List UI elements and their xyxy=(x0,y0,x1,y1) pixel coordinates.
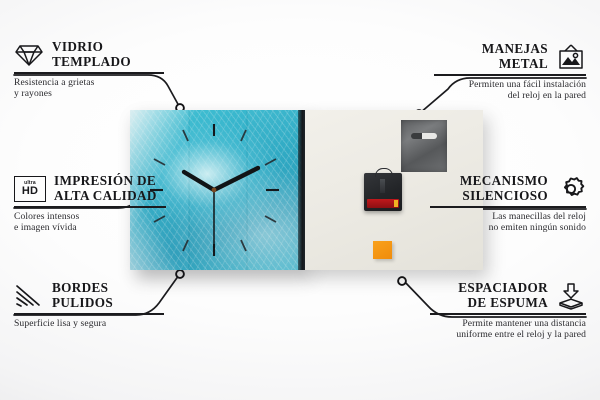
gear-icon xyxy=(556,175,586,203)
hanger-keyhole-slot xyxy=(411,133,437,139)
feature-description: Permiten una fácil instalación del reloj… xyxy=(434,79,586,102)
feature-bordes-pulidos: BORDES PULIDOS Superficie lisa y segura xyxy=(14,281,164,329)
feature-title: BORDES PULIDOS xyxy=(52,281,113,310)
feature-mecanismo-silencioso: MECANISMO SILENCIOSO Las manecillas del … xyxy=(430,174,586,234)
wire-dot-bordes xyxy=(176,270,184,278)
feature-description: Resistencia a grietas y rayones xyxy=(14,77,164,100)
feature-title: MANEJAS METAL xyxy=(482,42,548,71)
feature-description: Superficie lisa y segura xyxy=(14,318,164,329)
metal-hanger-plate xyxy=(401,120,447,172)
tempered-glass-edge xyxy=(298,110,305,270)
mechanism-hook xyxy=(375,168,393,177)
foam-spacer-arrow-icon xyxy=(556,282,586,310)
divider xyxy=(430,206,586,208)
hanging-picture-icon xyxy=(556,43,586,71)
feature-impresion-alta-calidad: ultra HD IMPRESIÓN DE ALTA CALIDAD Color… xyxy=(14,174,166,234)
hour-hand xyxy=(184,172,214,190)
feature-vidrio-templado: VIDRIO TEMPLADO Resistencia a grietas y … xyxy=(14,40,164,100)
divider xyxy=(14,206,166,208)
diagonal-lines-icon xyxy=(14,283,44,309)
feature-title: VIDRIO TEMPLADO xyxy=(52,40,131,69)
feature-description: Colores intensos e imagen vívida xyxy=(14,211,166,234)
battery-terminal xyxy=(394,200,398,207)
wire-dot-espaciador xyxy=(398,277,406,285)
ultra-hd-icon: ultra HD xyxy=(14,176,46,202)
divider xyxy=(14,72,164,74)
foam-spacer xyxy=(373,241,392,259)
clock-mechanism xyxy=(364,173,402,211)
feature-manejas-metal: MANEJAS METAL Permiten una fácil instala… xyxy=(434,42,586,102)
divider xyxy=(430,313,586,315)
divider xyxy=(434,74,586,76)
feature-title: ESPACIADOR DE ESPUMA xyxy=(458,281,548,310)
battery xyxy=(367,199,399,208)
feature-espaciador-espuma: ESPACIADOR DE ESPUMA Permite mantener un… xyxy=(430,281,586,341)
minute-hand xyxy=(214,168,258,190)
feature-title: MECANISMO SILENCIOSO xyxy=(460,174,548,203)
feature-description: Las manecillas del reloj no emiten ningú… xyxy=(430,211,586,234)
feature-title: IMPRESIÓN DE ALTA CALIDAD xyxy=(54,174,157,203)
divider xyxy=(14,313,164,315)
feature-description: Permite mantener una distancia uniforme … xyxy=(430,318,586,341)
mechanism-shaft xyxy=(380,179,385,193)
diamond-icon xyxy=(14,42,44,68)
infographic-canvas: VIDRIO TEMPLADO Resistencia a grietas y … xyxy=(0,0,600,400)
hands-center-cap xyxy=(212,188,217,193)
